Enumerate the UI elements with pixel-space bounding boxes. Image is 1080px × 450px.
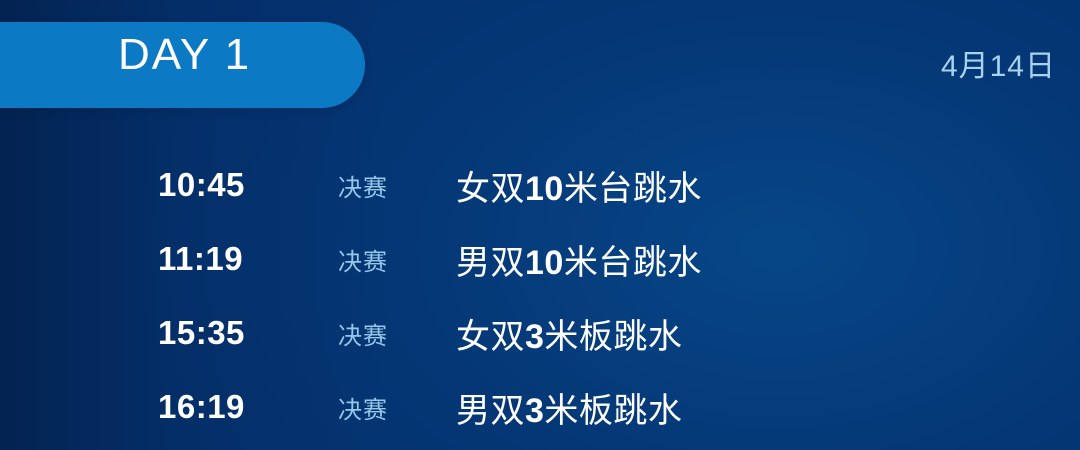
row-event: 男双10米台跳水 (456, 235, 702, 284)
day-schedule-card: DAY 1 4月14日 10:45 决赛 女双10米台跳水 11:19 决赛 男… (0, 0, 1080, 450)
schedule-row: 16:19 决赛 男双3米板跳水 (0, 370, 1080, 444)
row-stage: 决赛 (338, 168, 456, 203)
schedule-row: 11:19 决赛 男双10米台跳水 (0, 222, 1080, 296)
row-time: 11:19 (158, 240, 338, 278)
row-event: 女双3米板跳水 (456, 309, 682, 358)
schedule-list: 10:45 决赛 女双10米台跳水 11:19 决赛 男双10米台跳水 15:3… (0, 148, 1080, 444)
schedule-row: 10:45 决赛 女双10米台跳水 (0, 148, 1080, 222)
row-time: 15:35 (158, 314, 338, 352)
row-stage: 决赛 (338, 316, 456, 351)
row-time: 10:45 (158, 166, 338, 204)
date-label: 4月14日 (941, 52, 1056, 82)
row-stage: 决赛 (338, 390, 456, 425)
schedule-row: 15:35 决赛 女双3米板跳水 (0, 296, 1080, 370)
row-event: 女双10米台跳水 (456, 161, 702, 210)
day-badge-label: DAY 1 (118, 33, 251, 77)
row-stage: 决赛 (338, 242, 456, 277)
row-time: 16:19 (158, 388, 338, 426)
row-event: 男双3米板跳水 (456, 383, 682, 432)
